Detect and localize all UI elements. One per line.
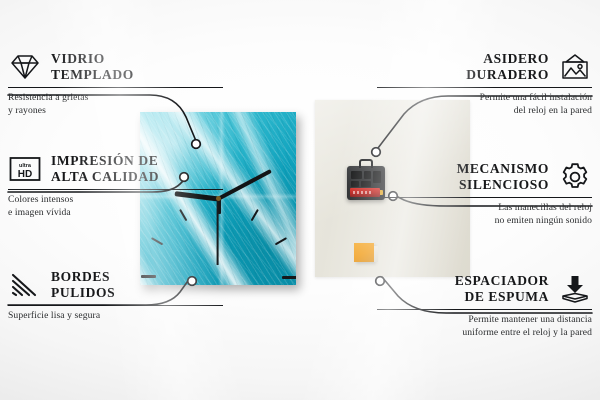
battery bbox=[350, 188, 380, 197]
feature-header: BORDES PULIDOS bbox=[8, 268, 223, 302]
feature-espaciador-de-espuma[interactable]: ESPACIADOR DE ESPUMA Permite mantener un… bbox=[377, 272, 592, 340]
feature-asidero-duradero[interactable]: ASIDERO DURADERO Permite una fácil insta… bbox=[377, 50, 592, 118]
feature-title: VIDRIO TEMPLADO bbox=[51, 51, 134, 83]
feature-rule bbox=[8, 305, 223, 306]
feature-description: Resistencia a grietas y rayones bbox=[8, 92, 223, 117]
gear-icon bbox=[558, 160, 592, 194]
feature-title: ASIDERO DURADERO bbox=[466, 51, 549, 83]
feature-mecanismo-silencioso[interactable]: MECANISMO SILENCIOSO Las manecillas del … bbox=[377, 160, 592, 228]
feature-impresion-alta-calidad[interactable]: ultra HD IMPRESIÓN DE ALTA CALIDAD Color… bbox=[8, 152, 223, 220]
svg-text:HD: HD bbox=[18, 169, 32, 180]
ultra-hd-icon: ultra HD bbox=[8, 152, 42, 186]
foam-spacer bbox=[354, 243, 374, 262]
polished-edges-icon bbox=[8, 268, 42, 302]
feature-rule bbox=[8, 87, 223, 88]
feature-rule bbox=[377, 87, 592, 88]
feature-header: ESPACIADOR DE ESPUMA bbox=[377, 272, 592, 306]
feature-description: Colores intensos e imagen vívida bbox=[8, 194, 223, 219]
feature-rule bbox=[8, 189, 223, 190]
picture-frame-hanger-icon bbox=[558, 50, 592, 84]
feature-header: VIDRIO TEMPLADO bbox=[8, 50, 223, 84]
feature-vidrio-templado[interactable]: VIDRIO TEMPLADO Resistencia a grietas y … bbox=[8, 50, 223, 118]
feature-title: IMPRESIÓN DE ALTA CALIDAD bbox=[51, 153, 159, 185]
feature-description: Permite una fácil instalación del reloj … bbox=[377, 92, 592, 117]
feature-header: MECANISMO SILENCIOSO bbox=[377, 160, 592, 194]
diamond-icon bbox=[8, 50, 42, 84]
feature-description: Permite mantener una distancia uniforme … bbox=[377, 314, 592, 339]
feature-description: Superficie lisa y segura bbox=[8, 310, 223, 323]
feature-bordes-pulidos[interactable]: BORDES PULIDOS Superficie lisa y segura bbox=[8, 268, 223, 323]
feature-title: BORDES PULIDOS bbox=[51, 269, 115, 301]
foam-spacer-arrow-icon bbox=[558, 272, 592, 306]
feature-header: ultra HD IMPRESIÓN DE ALTA CALIDAD bbox=[8, 152, 223, 186]
feature-title: ESPACIADOR DE ESPUMA bbox=[455, 273, 549, 305]
infographic-background: VIDRIO TEMPLADO Resistencia a grietas y … bbox=[0, 0, 600, 400]
feature-rule bbox=[377, 309, 592, 310]
feature-header: ASIDERO DURADERO bbox=[377, 50, 592, 84]
feature-description: Las manecillas del reloj no emiten ningú… bbox=[377, 202, 592, 227]
feature-title: MECANISMO SILENCIOSO bbox=[457, 161, 549, 193]
hanger-loop-icon bbox=[359, 159, 373, 168]
feature-rule bbox=[377, 197, 592, 198]
